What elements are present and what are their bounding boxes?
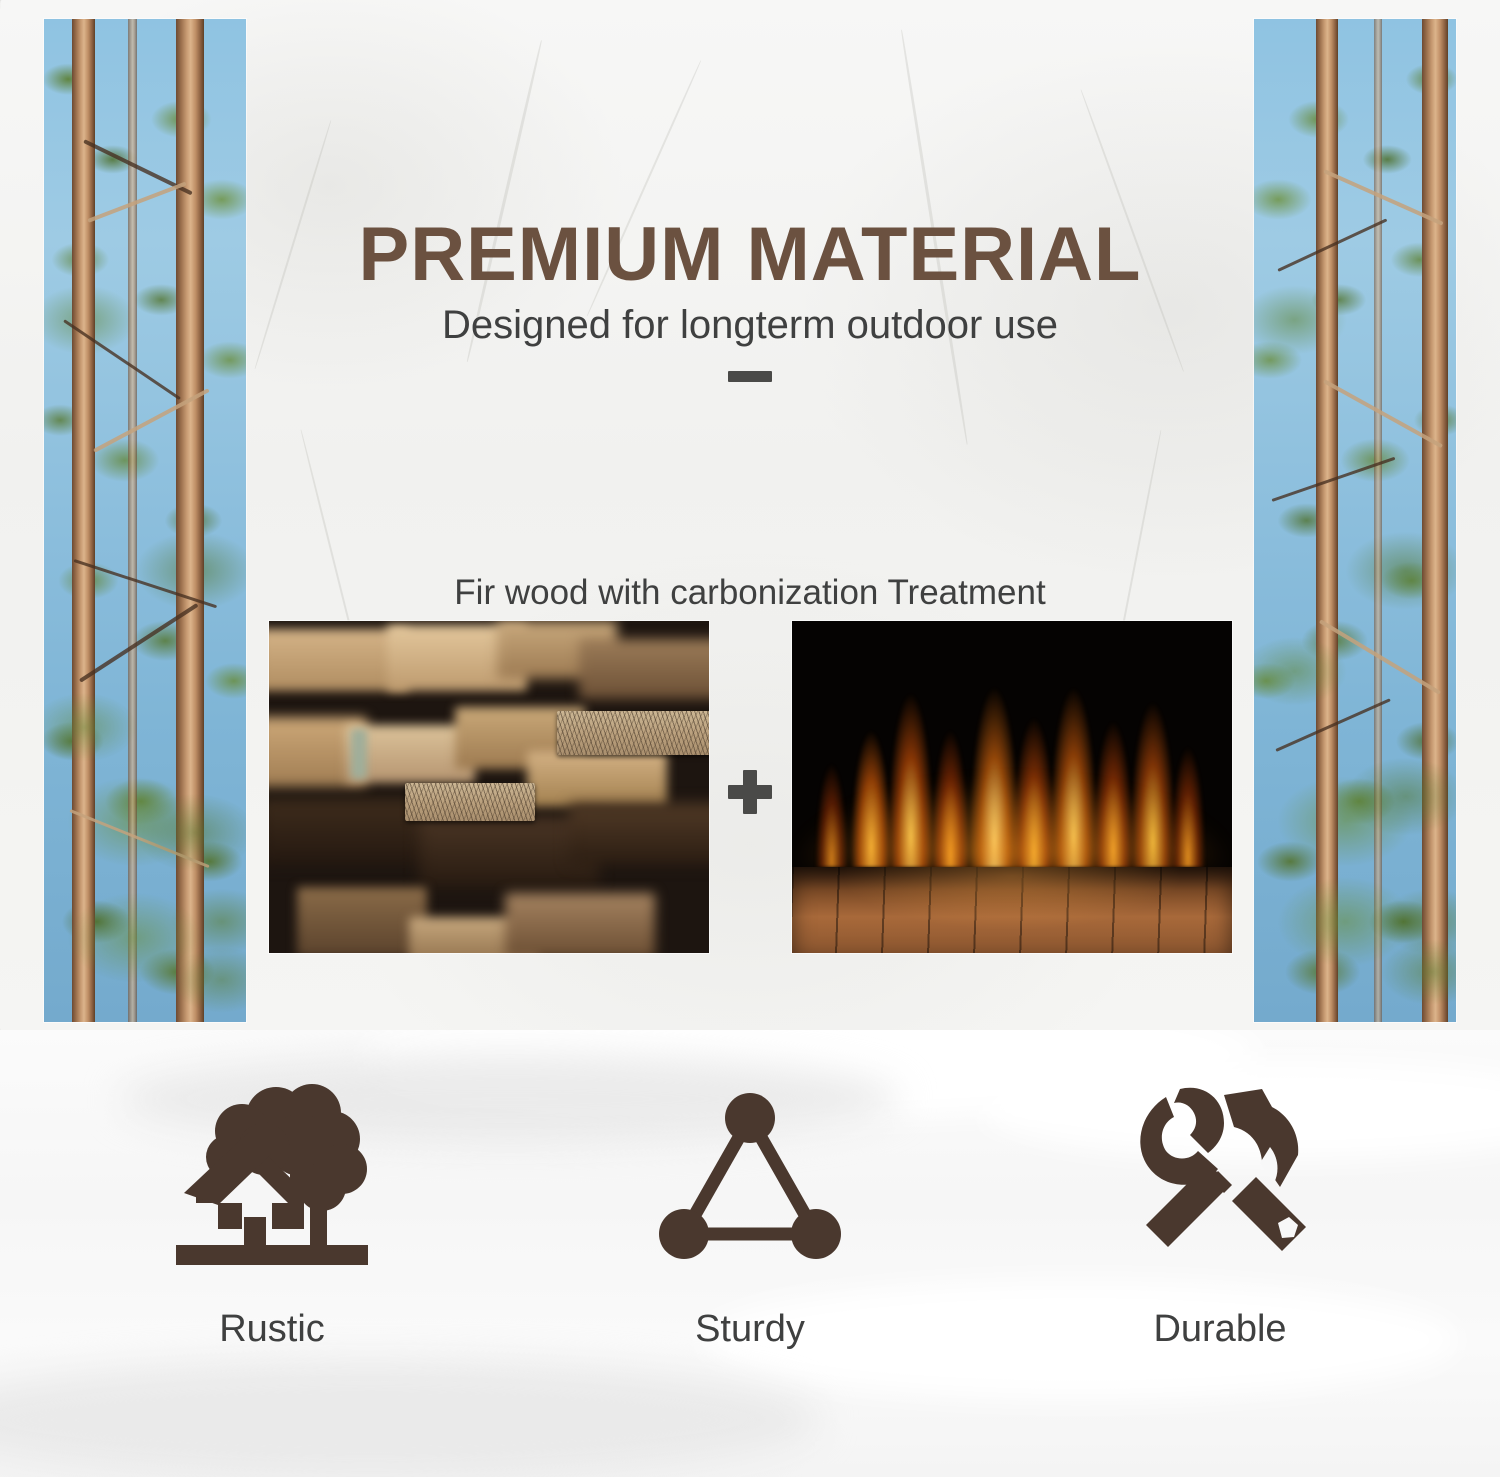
feature-item-rustic: Rustic xyxy=(92,1076,452,1348)
plank xyxy=(579,639,709,699)
hammer-wrench-icon xyxy=(1040,1076,1400,1276)
focused-plank xyxy=(557,711,709,755)
fire-scene xyxy=(792,621,1232,953)
feature-section: Rustic Sturdy xyxy=(0,1030,1500,1477)
page-subtitle: Designed for longterm outdoor use xyxy=(0,305,1500,345)
feature-item-sturdy: Sturdy xyxy=(570,1076,930,1348)
lumber-stack xyxy=(269,621,709,953)
feature-label: Durable xyxy=(1040,1310,1400,1348)
feature-label: Sturdy xyxy=(570,1310,930,1348)
fire-on-wood-floor-photo xyxy=(792,621,1232,953)
triangle-nodes-icon xyxy=(570,1076,930,1276)
pine-forest-strip-right xyxy=(1254,19,1456,1022)
pine-forest-strip-left xyxy=(44,19,246,1022)
foliage-overlay xyxy=(44,601,246,1022)
floor-light-reflection xyxy=(792,867,1232,953)
feature-item-durable: Durable xyxy=(1040,1076,1400,1348)
plank xyxy=(351,729,367,779)
page-title: PREMIUM MATERIAL xyxy=(0,217,1500,293)
infographic-canvas: PREMIUM MATERIAL Designed for longterm o… xyxy=(0,0,1500,1477)
plus-separator-icon xyxy=(728,770,772,814)
material-caption: Fir wood with carbonization Treatment xyxy=(0,575,1500,610)
focused-plank xyxy=(405,783,535,821)
plank xyxy=(505,893,655,953)
plank xyxy=(569,803,709,865)
house-with-tree-icon xyxy=(92,1076,452,1276)
plank xyxy=(297,887,427,953)
hero-section: PREMIUM MATERIAL Designed for longterm o… xyxy=(0,0,1500,1030)
flame-glow xyxy=(792,747,1232,867)
background-swoosh xyxy=(0,1360,820,1477)
stacked-fir-lumber-photo xyxy=(269,621,709,953)
plank xyxy=(527,751,667,807)
divider-rule xyxy=(728,371,772,382)
feature-label: Rustic xyxy=(92,1310,452,1348)
